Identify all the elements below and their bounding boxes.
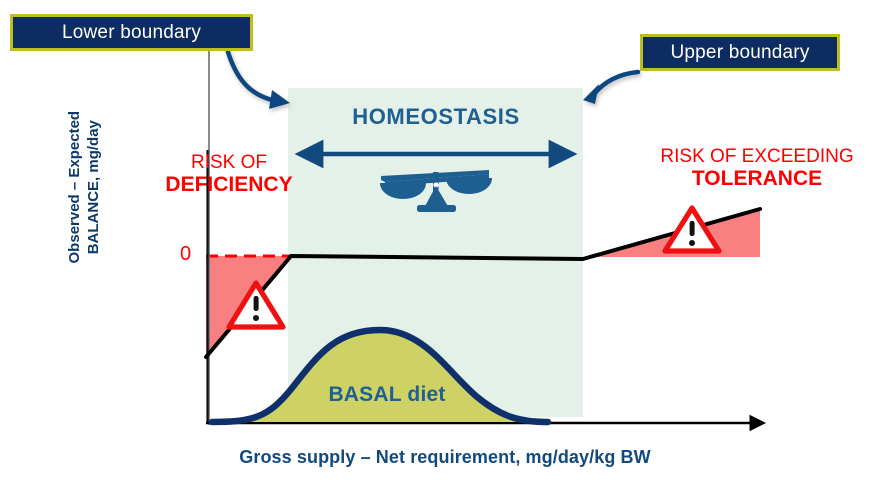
homeostasis-zone-label: HOMEOSTASIS <box>288 104 584 130</box>
upper-boundary-callout[interactable]: Upper boundary <box>640 34 840 71</box>
risk-of-deficiency-line2: DEFICIENCY <box>164 173 294 197</box>
upper-boundary-callout-label: Upper boundary <box>670 42 809 64</box>
x-axis-title: Gross supply – Net requirement, mg/day/k… <box>0 447 890 468</box>
lower-boundary-pointer-arrow <box>228 52 276 101</box>
risk-of-deficiency-line1: RISK OF <box>191 152 267 173</box>
lower-boundary-pointer-head <box>269 90 290 109</box>
risk-of-deficiency-label: RISK OF DEFICIENCY <box>164 152 294 197</box>
risk-of-tolerance-line1: RISK OF EXCEEDING <box>660 146 853 167</box>
diagram-graphics <box>0 0 890 489</box>
y-axis-title: Observed – Expected BALANCE, mg/day <box>65 67 103 307</box>
upper-boundary-pointer-arrow <box>594 72 638 94</box>
y-axis-title-line2: BALANCE, mg/day <box>84 67 103 307</box>
diagram-canvas: Lower boundary Upper boundary HOMEOSTASI… <box>0 0 890 489</box>
upper-boundary-pointer-head <box>583 84 599 104</box>
basal-diet-curve-label: BASAL diet <box>292 383 482 407</box>
lower-boundary-callout-label: Lower boundary <box>62 22 201 44</box>
risk-of-tolerance-line2: TOLERANCE <box>626 167 888 191</box>
lower-boundary-callout[interactable]: Lower boundary <box>10 14 253 51</box>
y-axis-zero-tick-label: 0 <box>180 243 191 266</box>
risk-of-exceeding-tolerance-label: RISK OF EXCEEDING TOLERANCE <box>626 146 888 191</box>
y-axis-title-line1: Observed – Expected <box>65 67 84 307</box>
